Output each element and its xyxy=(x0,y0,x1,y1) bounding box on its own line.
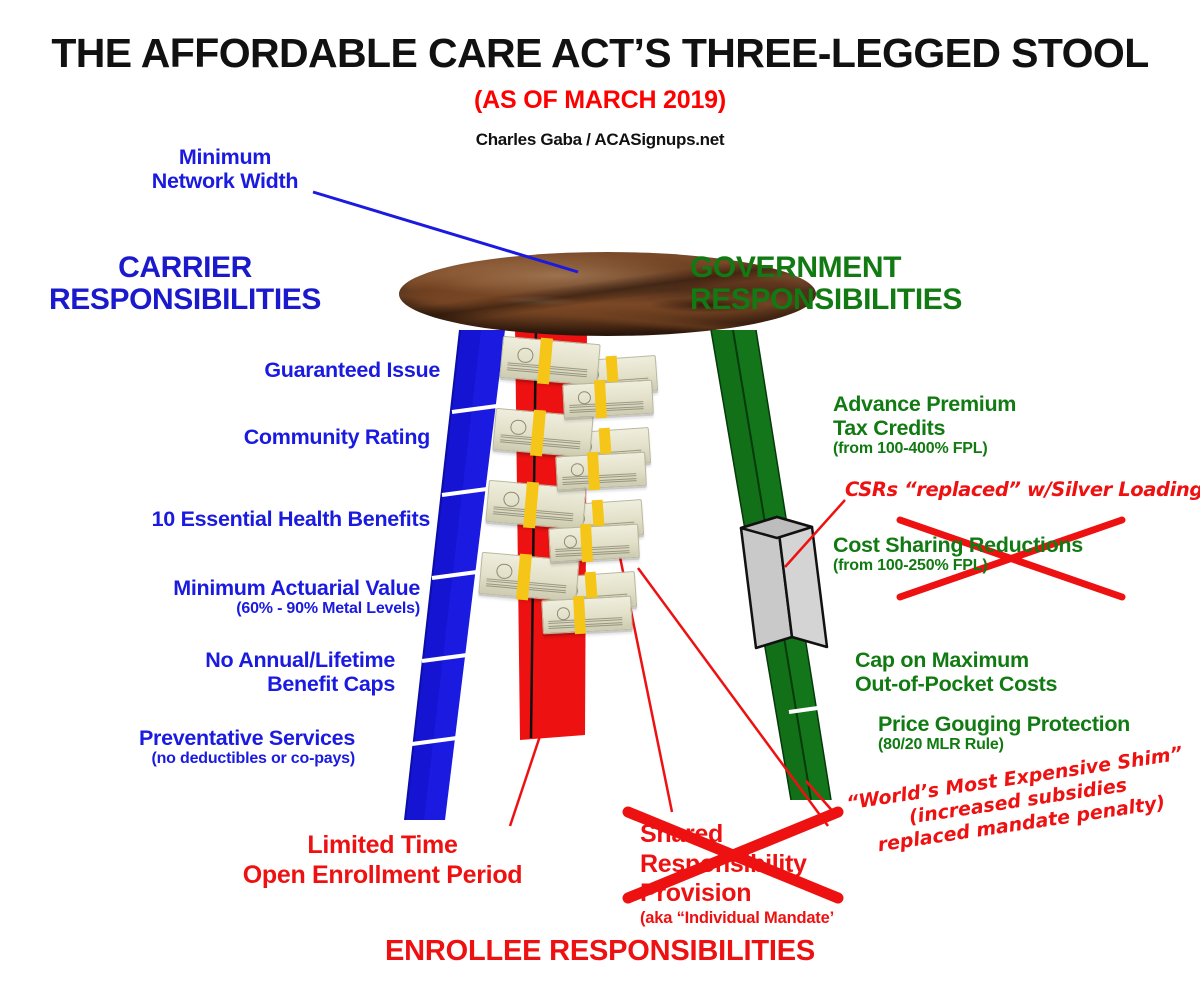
cash-band xyxy=(587,452,600,491)
label-main-line2: Out-of-Pocket Costs xyxy=(855,672,1185,696)
carrier-item-guaranteed-issue: Guaranteed Issue xyxy=(60,358,440,382)
carrier-item-minimum-actuarial-value: Minimum Actuarial Value (60% - 90% Metal… xyxy=(10,576,420,618)
bill-seal xyxy=(571,463,585,477)
callout-line1: Minimum xyxy=(95,145,355,169)
label-sub: (no deductibles or co-pays) xyxy=(10,750,355,768)
carrier-item-preventative-services: Preventative Services (no deductibles or… xyxy=(10,726,355,768)
enrollee-responsibilities-heading: ENROLLEE RESPONSIBILITIES xyxy=(0,935,1200,968)
annotation-csrs-replaced-silver-loading: CSRs “replaced” w/Silver Loading xyxy=(845,478,1200,501)
cash-band xyxy=(580,524,593,563)
label-main: 10 Essential Health Benefits xyxy=(10,507,430,531)
gov-heading-line2: RESPONSIBILITIES xyxy=(690,283,962,316)
label-main-line1: Limited Time xyxy=(195,830,570,860)
carrier-responsibilities-heading: CARRIER RESPONSIBILITIES xyxy=(10,252,360,316)
cash-bundle xyxy=(548,524,640,563)
government-item-advance-premium-tax-credits: Advance Premium Tax Credits (from 100-40… xyxy=(833,392,1163,458)
callout-line2: Network Width xyxy=(95,169,355,193)
carrier-item-no-annual-lifetime-caps: No Annual/Lifetime Benefit Caps xyxy=(10,648,395,696)
infographic-canvas: THE AFFORDABLE CARE ACT’S THREE-LEGGED S… xyxy=(0,0,1200,1000)
label-sub: (from 100-400% FPL) xyxy=(833,440,1163,458)
bill-seal xyxy=(564,535,578,549)
bill-seal xyxy=(496,563,513,580)
cash-bundle-row xyxy=(495,338,655,412)
bill-seal xyxy=(557,607,571,621)
cash-band xyxy=(573,596,586,635)
carrier-heading-line2: RESPONSIBILITIES xyxy=(49,283,321,316)
cash-bundle xyxy=(555,452,647,491)
cash-bundle-row xyxy=(474,554,634,628)
callout-minimum-network-width: Minimum Network Width xyxy=(95,145,355,193)
label-sub: (from 100-250% FPL) xyxy=(833,557,1173,575)
label-main-line2: Tax Credits xyxy=(833,416,1163,440)
cash-bundle-row xyxy=(488,410,648,484)
label-main: Cost Sharing Reductions xyxy=(833,533,1173,557)
label-main-line2: Open Enrollment Period xyxy=(195,860,570,890)
label-main: Price Gouging Protection xyxy=(878,712,1198,736)
bill-seal xyxy=(578,391,592,405)
label-main-line3: Provision xyxy=(640,879,870,909)
label-main-line1: Cap on Maximum xyxy=(855,648,1185,672)
carrier-item-essential-health-benefits: 10 Essential Health Benefits xyxy=(10,507,430,531)
label-sub: (60% - 90% Metal Levels) xyxy=(10,600,420,618)
carrier-heading-line1: CARRIER xyxy=(118,251,252,284)
government-item-cost-sharing-reductions: Cost Sharing Reductions (from 100-250% F… xyxy=(833,533,1173,575)
cash-bundle-row xyxy=(481,482,641,556)
cash-bundle xyxy=(562,380,654,419)
enrollee-item-open-enrollment-period: Limited Time Open Enrollment Period xyxy=(195,830,570,890)
cash-bundle xyxy=(541,596,633,635)
bill-seal xyxy=(503,491,520,508)
label-main: Community Rating xyxy=(60,425,430,449)
label-main: Guaranteed Issue xyxy=(60,358,440,382)
cash-band xyxy=(594,380,607,419)
government-responsibilities-heading: GOVERNMENT RESPONSIBILITIES xyxy=(690,252,1170,316)
stack-of-cash-bundles xyxy=(495,338,655,628)
label-main-line2: Responsibility xyxy=(640,850,870,880)
label-main-line1: Advance Premium xyxy=(833,392,1163,416)
government-item-cap-on-max-out-of-pocket: Cap on Maximum Out-of-Pocket Costs xyxy=(855,648,1185,696)
gov-heading-line1: GOVERNMENT xyxy=(690,251,901,284)
label-main-line1: No Annual/Lifetime xyxy=(10,648,395,672)
label-sub: (aka “Individual Mandate’ xyxy=(640,909,870,927)
bill-seal xyxy=(517,347,534,364)
label-main: Minimum Actuarial Value xyxy=(10,576,420,600)
label-main: Preventative Services xyxy=(10,726,355,750)
bill-seal xyxy=(510,419,527,436)
carrier-item-community-rating: Community Rating xyxy=(60,425,430,449)
label-main-line2: Benefit Caps xyxy=(10,672,395,696)
